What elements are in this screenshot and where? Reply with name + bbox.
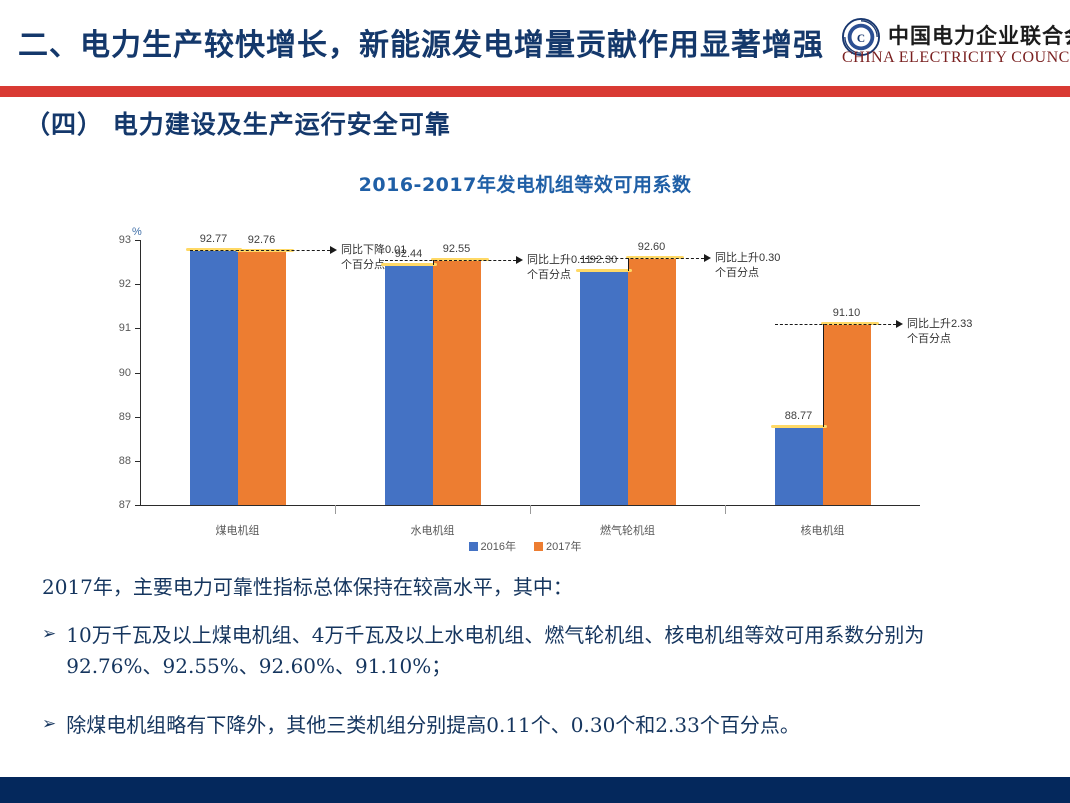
list-item-text: 10万千瓦及以上煤电机组、4万千瓦及以上水电机组、燃气轮机组、核电机组等效可用系… [66,620,966,682]
x-axis-separator [335,505,336,514]
bar-2016-燃气轮机组 [580,271,628,505]
list-item-text: 除煤电机组略有下降外，其他三类机组分别提高0.11个、0.30个和2.33个百分… [66,710,800,741]
bar-value-2017: 91.10 [833,307,861,319]
x-axis-category-label: 核电机组 [801,522,845,538]
y-axis-tick [135,328,140,329]
lead-paragraph: 2017年，主要电力可靠性指标总体保持在较高水平，其中： [42,572,573,603]
bar-value-2016: 92.30 [590,254,618,266]
bar-2016-核电机组 [775,427,823,505]
legend-swatch-icon [469,542,478,551]
chart-legend: 2016年2017年 [110,538,940,554]
chart-container: 2016-2017年发电机组等效可用系数 % 8788899091929392.… [110,170,940,560]
bar-top-highlight [381,263,437,266]
bar-value-2017: 92.60 [638,241,666,253]
y-axis-tick [135,373,140,374]
bar-2017-煤电机组 [238,251,286,505]
bar-2016-煤电机组 [190,250,238,505]
legend-item[interactable]: 2016年 [469,538,516,554]
y-axis-label: 91 [119,322,131,334]
chart-title: 2016-2017年发电机组等效可用系数 [110,170,940,197]
logo-chinese-name: 中国电力企业联合会 [888,20,1070,50]
bullet-arrow-icon: ➢ [42,710,56,741]
svg-text:C: C [857,33,865,45]
bullet-arrow-icon: ➢ [42,620,56,682]
x-axis-separator [725,505,726,514]
y-axis-tick [135,417,140,418]
y-axis-label: 88 [119,455,131,467]
callout-arrow-icon [896,320,903,328]
list-item: ➢ 除煤电机组略有下降外，其他三类机组分别提高0.11个、0.30个和2.33个… [42,710,800,741]
y-axis-label: 90 [119,367,131,379]
x-axis-category-label: 煤电机组 [216,522,260,538]
bar-top-highlight [576,269,632,272]
bar-value-2017: 92.55 [443,243,471,255]
slide-header: 二、电力生产较快增长，新能源发电增量贡献作用显著增强 C 中国电力企业联合会 C… [0,0,1070,86]
y-axis-tick [135,505,140,506]
legend-label: 2017年 [546,541,581,553]
page-title: 二、电力生产较快增长，新能源发电增量贡献作用显著增强 [18,20,824,64]
bar-value-2016: 92.44 [395,248,423,260]
logo-english-name: CHINA ELECTRICITY COUNCIL [842,49,1070,67]
bar-value-2017: 92.76 [248,234,276,246]
callout-connector [775,324,897,325]
y-axis-tick [135,240,140,241]
chart-annotation: 同比上升2.33个百分点 [907,317,981,347]
legend-label: 2016年 [481,541,516,553]
callout-arrow-icon [704,254,711,262]
callout-connector [823,324,824,427]
organization-logo: C 中国电力企业联合会 CHINA ELECTRICITY COUNCIL [842,16,1064,78]
bar-2017-核电机组 [823,324,871,505]
callout-connector [190,250,331,251]
x-axis-category-label: 燃气轮机组 [600,522,655,538]
y-axis-label: 89 [119,411,131,423]
y-axis-label: 92 [119,278,131,290]
chart-annotation: 同比上升0.30个百分点 [715,251,789,281]
bar-2017-水电机组 [433,260,481,505]
callout-connector [628,258,629,271]
bar-value-2016: 92.77 [200,233,228,245]
bar-2017-燃气轮机组 [628,258,676,505]
bar-value-2016: 88.77 [785,410,813,422]
callout-arrow-icon [330,246,337,254]
footer-band [0,777,1070,803]
legend-swatch-icon [534,542,543,551]
y-axis-label: 87 [119,499,131,511]
chart-plot-area: 8788899091929392.7792.76同比下降0.01个百分点煤电机组… [140,240,920,505]
legend-item[interactable]: 2017年 [534,538,581,554]
list-item: ➢ 10万千瓦及以上煤电机组、4万千瓦及以上水电机组、燃气轮机组、核电机组等效可… [42,620,966,682]
header-divider [0,86,1070,97]
bar-2016-水电机组 [385,265,433,505]
bar-top-highlight [771,425,827,428]
y-axis-tick [135,284,140,285]
y-axis-label: 93 [119,234,131,246]
chart-unit-label: % [132,226,142,238]
section-heading: （四） 电力建设及生产运行安全可靠 [25,105,451,141]
y-axis-tick [135,461,140,462]
callout-arrow-icon [516,256,523,264]
callout-connector [580,258,705,259]
callout-connector [385,260,517,261]
x-axis-category-label: 水电机组 [411,522,455,538]
y-axis [140,240,141,505]
x-axis-separator [530,505,531,514]
